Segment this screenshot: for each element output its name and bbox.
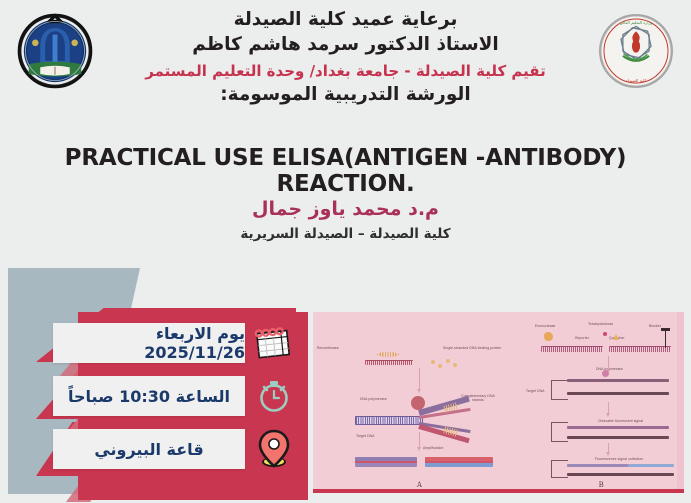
speaker-name: م.د محمد ياوز جمال <box>0 198 691 220</box>
figure-ssb-dot-2 <box>438 364 442 368</box>
figure-strand-b-top-3a <box>567 464 629 467</box>
figure-label-cleavable-signal: Cleavable fluorescent signal <box>598 419 643 423</box>
figure-recombinase-coat <box>377 352 399 357</box>
figure-arrow-b3 <box>608 443 609 453</box>
header-line-2: الاستاذ الدكتور سرمد هاشم كاظم <box>110 33 581 58</box>
figure-panel-bottom-edge <box>313 489 684 493</box>
figure-probe-strand-right <box>609 346 671 352</box>
figure-strand-b-bot-2 <box>567 436 669 439</box>
header-line-4-workshop: الورشة التدريبية الموسومة: <box>110 83 581 108</box>
figure-panel-b-letter: B <box>599 481 604 489</box>
clock-icon <box>245 377 303 415</box>
speaker-affiliation: كلية الصيدلة – الصيدلة السريرية <box>0 226 691 242</box>
figure-blocker-cap <box>661 328 670 331</box>
college-of-pharmacy-logo: وزارة التعليم العالي كلية الصيدلة <box>595 10 677 92</box>
header-line-3-organizer: تقيم كلية الصيدلة - جامعة بغداد/ وحدة ال… <box>110 60 581 83</box>
event-time-chip: الساعة 10:30 صباحاً <box>53 376 245 416</box>
figure-arrow-a1 <box>419 368 420 390</box>
university-of-baghdad-logo <box>14 10 96 92</box>
figure-amplicon-left <box>355 457 417 467</box>
figure-label-blocker: Blocker <box>649 324 661 328</box>
poster-header: وزارة التعليم العالي كلية الصيدلة برعاية… <box>0 0 691 140</box>
figure-label-tetrahydrofuran: Tetrahydrofuran <box>588 322 613 326</box>
figure-strand-b-top-3b <box>629 464 674 467</box>
figure-label-dna-polymerase-a: DNA polymerase <box>360 397 387 401</box>
figure-image-panel: Recombinase Single-stranded DNA binding … <box>313 312 684 493</box>
workshop-title: PRACTICAL USE ELISA(ANTIGEN -ANTIBODY) R… <box>0 145 691 197</box>
figure-fork-2 <box>551 422 568 442</box>
event-location-chip: قاعة البيروني <box>53 429 245 469</box>
figure-ssb-dot-3 <box>446 359 450 363</box>
figure-arrow-b2 <box>608 402 609 414</box>
figure-reporter-dot <box>603 332 607 336</box>
figure-label-reporter: Reporter <box>575 336 589 340</box>
figure-strand-b-top-1 <box>567 379 669 382</box>
figure-exonuclease-shape <box>544 332 553 341</box>
calendar-icon <box>245 324 303 362</box>
poster-canvas: وزارة التعليم العالي كلية الصيدلة برعاية… <box>0 0 691 503</box>
figure-panel-right-edge <box>677 312 684 493</box>
figure-label-ssb-protein: Single-stranded DNA binding protein <box>443 346 501 350</box>
figure-fork-1 <box>551 380 568 400</box>
figure-fork-3 <box>551 460 568 478</box>
header-line-1: برعاية عميد كلية الصيدلة <box>110 8 581 33</box>
location-pin-icon <box>245 428 303 470</box>
figure-label-exonuclease: Exonuclease <box>535 324 556 328</box>
figure-ssb-dot-4 <box>453 363 457 367</box>
svg-text:وزارة التعليم العالي: وزارة التعليم العالي <box>620 20 653 25</box>
event-location-row: قاعة البيروني <box>28 426 303 472</box>
figure-probe-strand-left <box>541 346 603 352</box>
figure-arrow-a2 <box>419 432 420 448</box>
figure-strand-b-top-2 <box>567 426 669 429</box>
figure-label-recombinase: Recombinase <box>317 346 339 350</box>
figure-strand-b-bot-3 <box>567 473 674 476</box>
figure-label-target-dna-b: Target DNA <box>526 389 545 393</box>
header-text-block: برعاية عميد كلية الصيدلة الاستاذ الدكتور… <box>110 8 581 108</box>
figure-quencher-mark <box>613 334 619 340</box>
event-date-row: يوم الاربعاء 2025/11/26 <box>28 320 303 366</box>
figure-panel-a-letter: A <box>417 481 422 489</box>
figure-target-dna-duplex <box>355 416 423 425</box>
event-date-chip: يوم الاربعاء 2025/11/26 <box>53 323 245 363</box>
figure-label-amplification: Amplification <box>423 446 444 450</box>
figure-blocker-stem <box>665 330 666 348</box>
figure-strand-b-bot-1 <box>567 392 669 395</box>
svg-text:كلية الصيدلة: كلية الصيدلة <box>626 78 647 83</box>
figure-polymerase-dot-b <box>602 370 609 377</box>
figure-label-target-dna-a: Target DNA <box>356 434 375 438</box>
figure-primer-strand <box>365 360 413 365</box>
figure-arrow-b1 <box>608 356 609 370</box>
event-time-row: الساعة 10:30 صباحاً <box>28 373 303 419</box>
figure-ssb-dot-1 <box>431 360 435 364</box>
figure-label-signal-collection: Fluorescence signal collection <box>595 457 643 461</box>
event-info-list: يوم الاربعاء 2025/11/26 الساعة 10:30 صبا… <box>28 320 303 479</box>
figure-amplicon-right <box>425 457 493 467</box>
